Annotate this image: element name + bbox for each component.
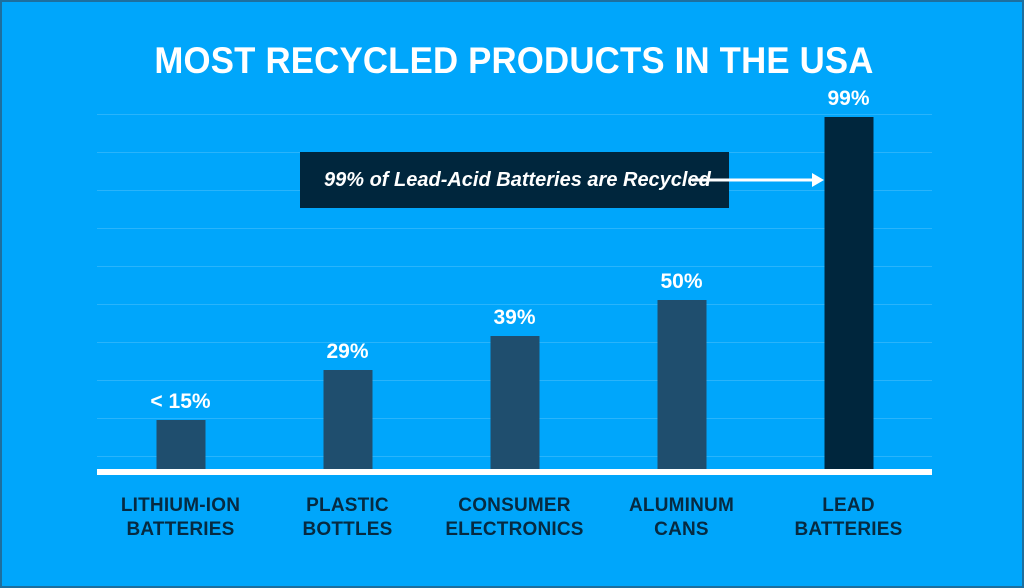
bar[interactable] <box>323 370 372 475</box>
category-label-consumer-electronics: CONSUMER ELECTRONICS <box>431 494 598 542</box>
category-label-line2: BATTERIES <box>765 518 932 542</box>
category-label-aluminum-cans: ALUMINUM CANS <box>598 494 765 542</box>
bar-value-label: 39% <box>493 306 535 330</box>
bar[interactable] <box>490 336 539 475</box>
category-label-plastic-bottles: PLASTIC BOTTLES <box>264 494 431 542</box>
callout-box: 99% of Lead-Acid Batteries are Recycled <box>300 152 729 208</box>
page-title: MOST RECYCLED PRODUCTS IN THE USA <box>33 40 996 82</box>
category-label-line2: ELECTRONICS <box>431 518 598 542</box>
category-label-lead-batteries: LEAD BATTERIES <box>765 494 932 542</box>
category-label-line2: BOTTLES <box>264 518 431 542</box>
arrow-right-icon <box>692 172 824 188</box>
category-label-line1: PLASTIC <box>306 495 389 516</box>
bar-group: 99% <box>765 97 932 475</box>
bar-value-label: 99% <box>827 87 869 111</box>
bar-value-label: < 15% <box>150 390 210 414</box>
callout-text: 99% of Lead-Acid Batteries are Recycled <box>324 152 711 208</box>
category-label-line1: ALUMINUM <box>629 495 734 516</box>
bar[interactable] <box>156 420 205 475</box>
category-label-line2: CANS <box>598 518 765 542</box>
infographic-canvas: MOST RECYCLED PRODUCTS IN THE USA < 15% … <box>0 0 1024 588</box>
category-label-line1: LITHIUM-ION <box>121 495 240 516</box>
bar[interactable] <box>657 300 706 475</box>
x-axis-line <box>97 469 932 475</box>
category-label-line1: CONSUMER <box>458 495 570 516</box>
category-label-lithium-ion-batteries: LITHIUM-ION BATTERIES <box>97 494 264 542</box>
bar-highlighted[interactable] <box>824 117 873 475</box>
category-label-line2: BATTERIES <box>97 518 264 542</box>
bar-value-label: 29% <box>326 340 368 364</box>
category-label-line1: LEAD <box>822 495 875 516</box>
bar-group: < 15% <box>97 97 264 475</box>
bar-value-label: 50% <box>660 270 702 294</box>
